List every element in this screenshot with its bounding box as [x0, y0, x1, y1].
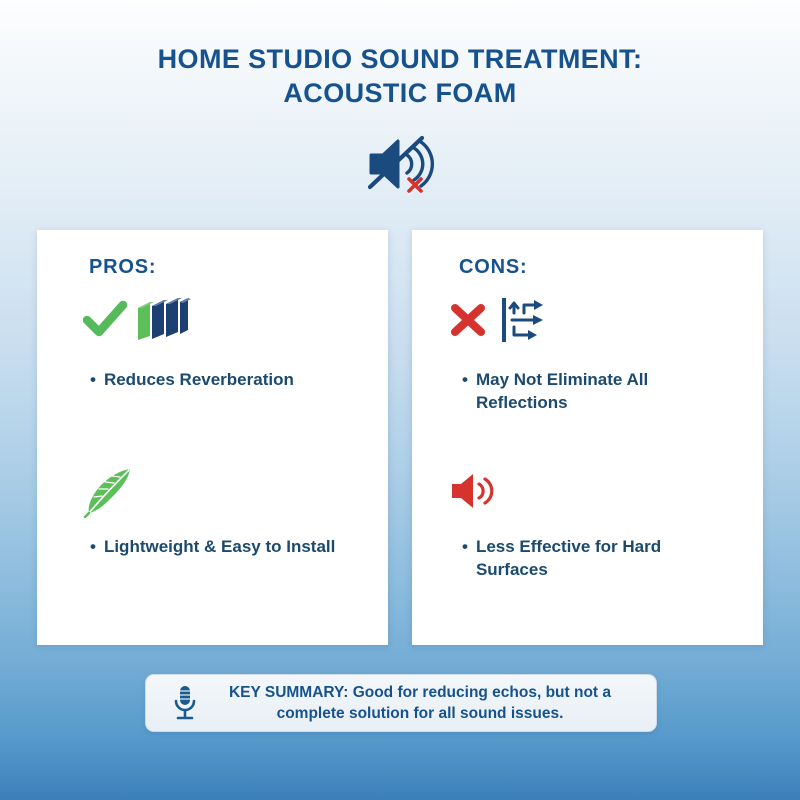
page-title: HOME STUDIO SOUND TREATMENT: ACOUSTIC FO… [0, 42, 800, 110]
cons-item-2-label: Less Effective for Hard Surfaces [476, 535, 727, 581]
infographic-poster: HOME STUDIO SOUND TREATMENT: ACOUSTIC FO… [0, 0, 800, 800]
red-x-icon [448, 301, 488, 344]
bullet-dot: • [462, 535, 468, 581]
cons-item-1-label: May Not Eliminate All Reflections [476, 368, 732, 414]
red-speaker-icon [448, 470, 502, 517]
pros-icon-row-2 [82, 465, 138, 524]
cons-heading: CONS: [459, 256, 527, 279]
title-line-2: ACOUSTIC FOAM [0, 76, 800, 110]
title-line-1: HOME STUDIO SOUND TREATMENT: [0, 42, 800, 76]
cons-item-1: • May Not Eliminate All Reflections [462, 368, 732, 414]
pros-item-2-label: Lightweight & Easy to Install [104, 535, 335, 558]
muted-speaker-icon [365, 133, 439, 195]
cons-card: CONS: [412, 230, 763, 645]
acoustic-panels-icon [134, 294, 196, 349]
cons-icon-row-1 [448, 295, 550, 350]
cons-icon-row-2 [448, 470, 502, 517]
microphone-icon [172, 684, 198, 722]
bullet-dot: • [462, 368, 468, 414]
green-check-icon [83, 300, 127, 343]
feather-icon [82, 465, 138, 524]
pros-item-1: • Reduces Reverberation [90, 368, 345, 391]
pros-icon-row-1 [83, 294, 196, 349]
sound-reflection-icon [498, 295, 550, 350]
pros-item-1-label: Reduces Reverberation [104, 368, 294, 391]
bullet-dot: • [90, 535, 96, 558]
key-summary-text: KEY SUMMARY: Good for reducing echos, bu… [210, 682, 630, 724]
pros-card: PROS: [37, 230, 388, 645]
cons-item-2: • Less Effective for Hard Surfaces [462, 535, 727, 581]
pros-heading: PROS: [89, 256, 156, 279]
bullet-dot: • [90, 368, 96, 391]
pros-item-2: • Lightweight & Easy to Install [90, 535, 350, 558]
key-summary-bar: KEY SUMMARY: Good for reducing echos, bu… [145, 674, 657, 732]
